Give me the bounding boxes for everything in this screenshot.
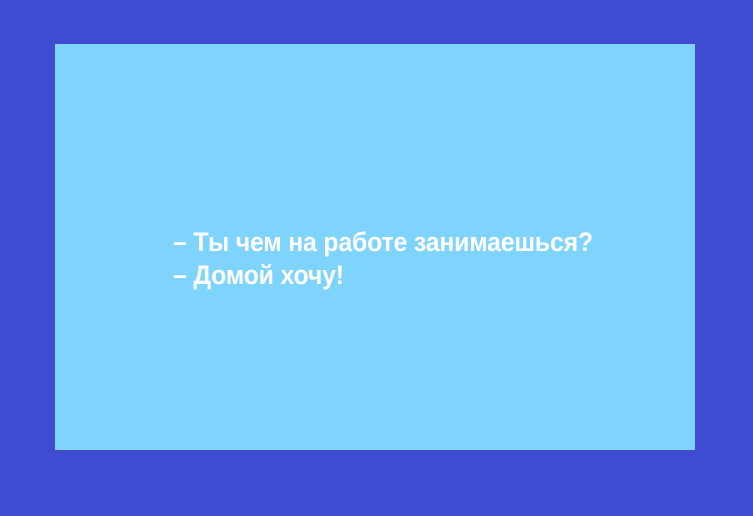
joke-line-answer: – Домой хочу! (173, 259, 633, 292)
joke-card: – Ты чем на работе занимаешься? – Домой … (55, 44, 695, 450)
joke-text-block: – Ты чем на работе занимаешься? – Домой … (173, 226, 673, 292)
poster-canvas: – Ты чем на работе занимаешься? – Домой … (0, 0, 753, 516)
joke-line-question: – Ты чем на работе занимаешься? (173, 226, 633, 259)
